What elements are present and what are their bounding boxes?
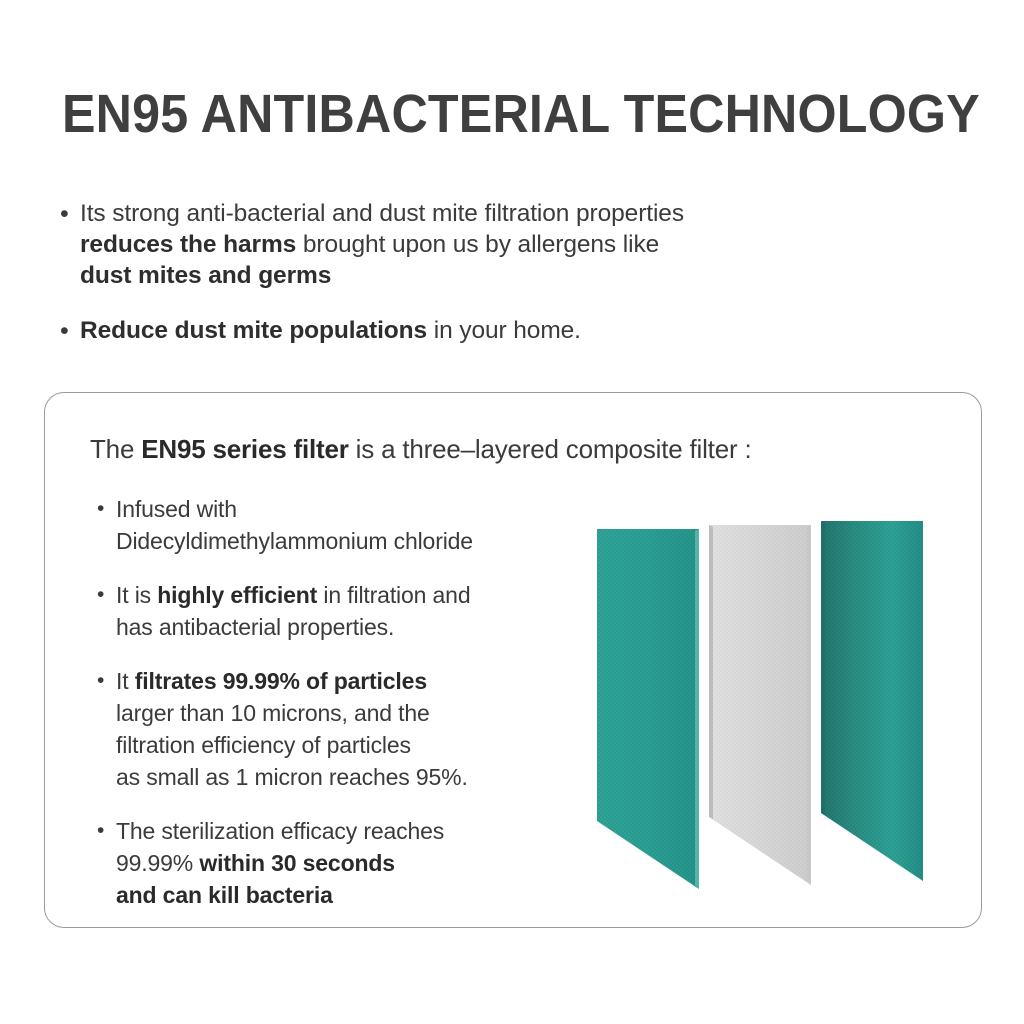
three-layer-filter-diagram [593, 503, 983, 913]
list-item: • It is highly efficient in filtration a… [97, 579, 597, 643]
card-bullet-list: • Infused withDidecyldimethylammonium ch… [97, 493, 597, 933]
bullet-glyph: • [60, 315, 80, 347]
card-bullet-infused-text: Infused withDidecyldimethylammonium chlo… [116, 493, 473, 557]
list-item: • Reduce dust mite populations in your h… [60, 315, 960, 347]
bullet-glyph: • [97, 493, 116, 525]
intro-bullet-2-text: Reduce dust mite populations in your hom… [80, 315, 581, 346]
bullet-glyph: • [60, 198, 80, 230]
card-bullet-sterilization-text: The sterilization efficacy reaches99.99%… [116, 815, 444, 911]
filter-layer-outer-front [597, 529, 699, 889]
card-bullet-efficiency-text: It is highly efficient in filtration and… [116, 579, 470, 643]
page-title: EN95 ANTIBACTERIAL TECHNOLOGY [62, 86, 980, 143]
list-item: • Infused withDidecyldimethylammonium ch… [97, 493, 597, 557]
list-item: • It filtrates 99.99% of particleslarger… [97, 665, 597, 793]
intro-bullet-list: • Its strong anti-bacterial and dust mit… [60, 198, 960, 371]
list-item: • The sterilization efficacy reaches99.9… [97, 815, 597, 911]
card-heading: The EN95 series filter is a three–layere… [90, 433, 751, 465]
bullet-glyph: • [97, 665, 116, 697]
list-item: • Its strong anti-bacterial and dust mit… [60, 198, 960, 291]
bullet-glyph: • [97, 815, 116, 847]
filter-layer-middle [709, 525, 811, 885]
filter-layer-outer-back [821, 521, 923, 881]
filter-info-card: The EN95 series filter is a three–layere… [44, 392, 982, 928]
card-bullet-filtration-text: It filtrates 99.99% of particleslarger t… [116, 665, 468, 793]
bullet-glyph: • [97, 579, 116, 611]
intro-bullet-1-text: Its strong anti-bacterial and dust mite … [80, 198, 684, 291]
poster-root: EN95 ANTIBACTERIAL TECHNOLOGY • Its stro… [0, 0, 1024, 1024]
